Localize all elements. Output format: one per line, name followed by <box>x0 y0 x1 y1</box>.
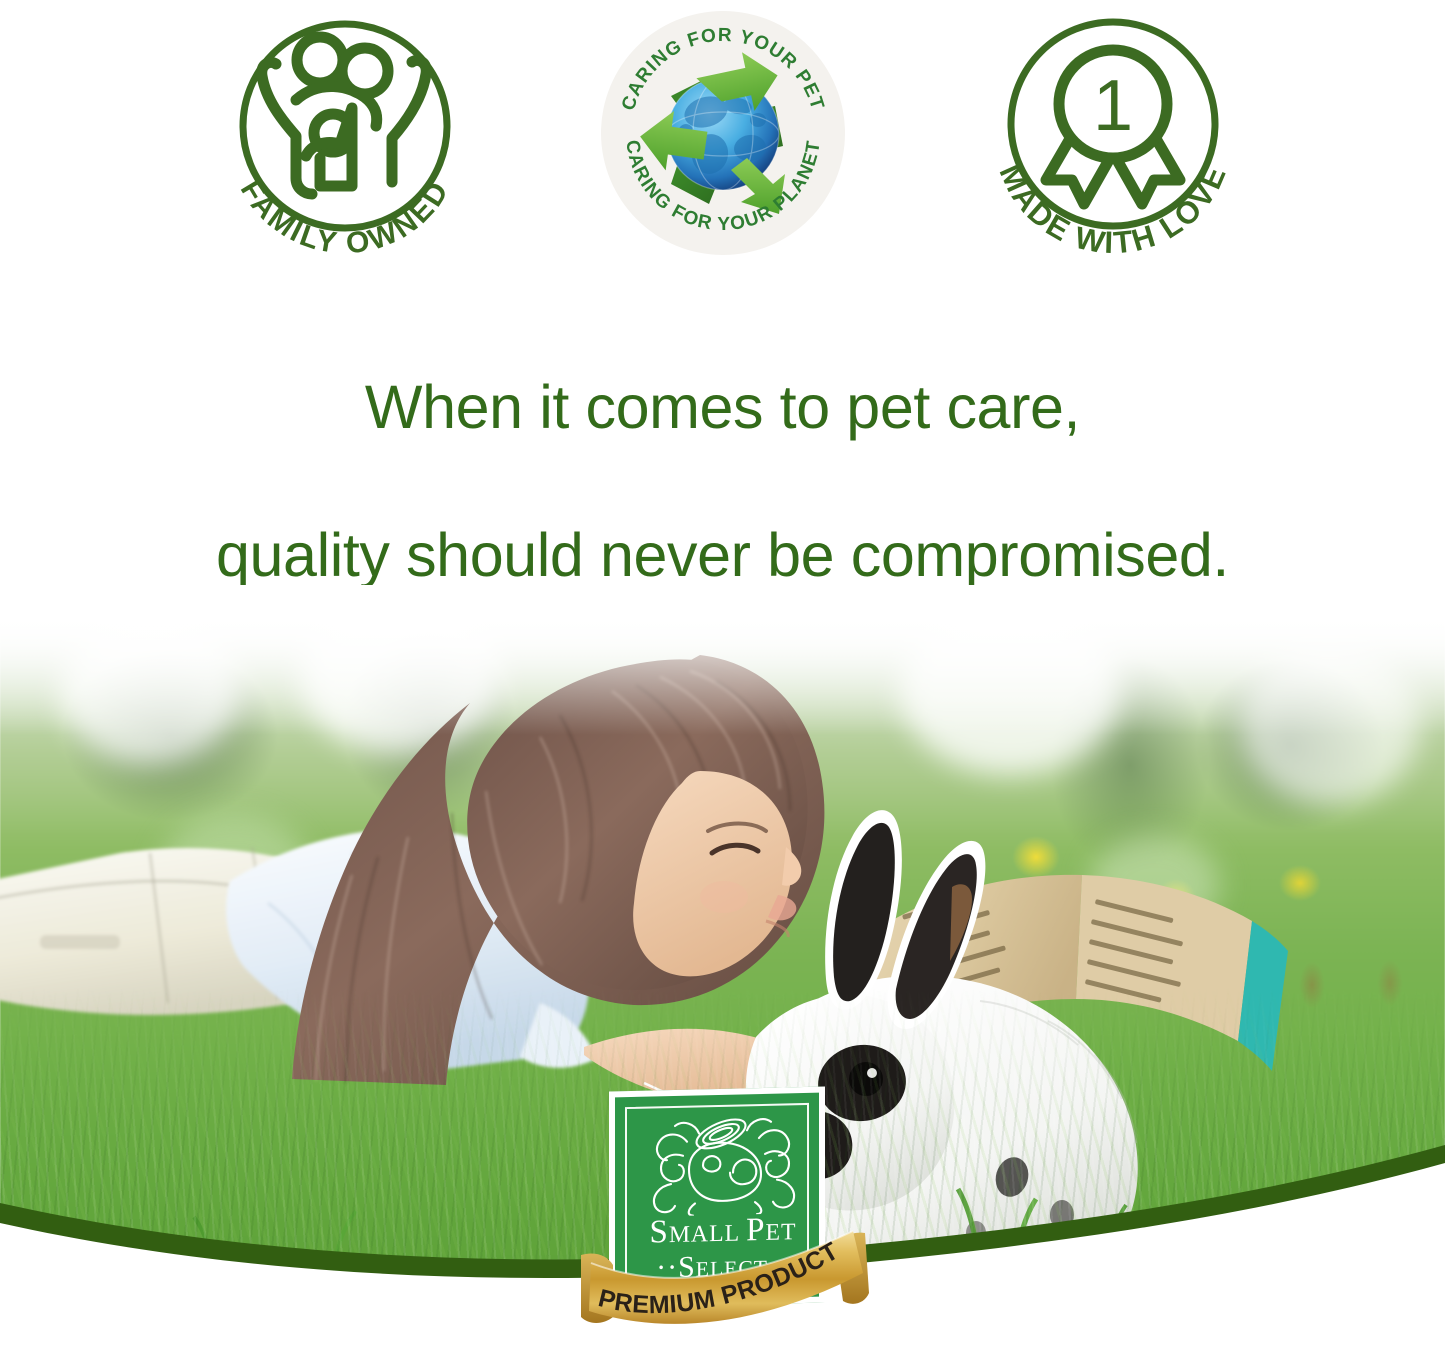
badge-caring-planet-text: CARING FOR YOUR PLANET <box>598 258 599 259</box>
badge-caring-pet-text: CARING FOR YOUR PET <box>598 258 599 259</box>
badge-made-with-love-text: MADE WITH LOVE <box>968 258 969 259</box>
award-ribbon-icon: 1 MADE WITH LOVE <box>968 8 1258 258</box>
svg-text:MADE WITH LOVE: MADE WITH LOVE <box>992 159 1233 258</box>
family-figures-icon: FAMILY OWNED <box>200 8 490 258</box>
badge-family-owned-text: FAMILY OWNED <box>200 258 201 259</box>
badge-caring-for-planet: CARING FOR YOUR PET CARING FOR YOUR PLAN… <box>598 8 848 258</box>
premium-product-ribbon: PREMIUM PRODUCT <box>573 1229 873 1333</box>
badge-family-owned: FAMILY OWNED FAMILY OWNED <box>200 8 490 258</box>
badge-made-with-love-label: MADE WITH LOVE <box>992 159 1233 258</box>
headline-line-2: quality should never be compromised. <box>0 518 1445 592</box>
recycle-globe-icon: CARING FOR YOUR PET CARING FOR YOUR PLAN… <box>598 8 848 258</box>
badge-made-with-love: 1 MADE WITH LOVE MADE WITH LOVE <box>968 8 1258 258</box>
brand-logo: SMALL PET ··SELECT·· <box>609 1089 841 1321</box>
trust-badge-row: FAMILY OWNED FAMILY OWNED <box>0 0 1445 265</box>
badge-number-label: 1 <box>1093 66 1133 146</box>
marketing-banner: FAMILY OWNED FAMILY OWNED <box>0 0 1445 1357</box>
headline-line-1: When it comes to pet care, <box>0 370 1445 444</box>
swirl-rabbit-icon <box>637 1109 809 1217</box>
photo-top-fade <box>0 585 1445 735</box>
